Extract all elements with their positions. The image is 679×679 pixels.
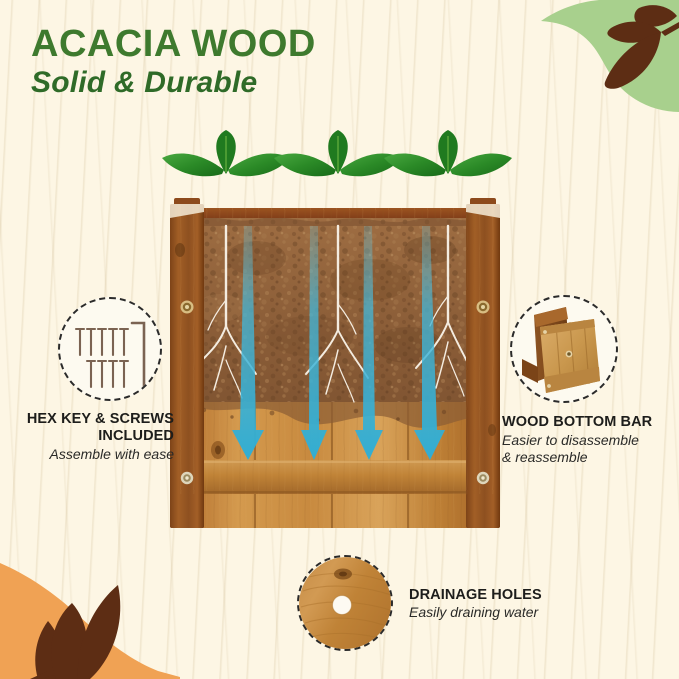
screw-upper-right (477, 301, 490, 314)
soil-mass (184, 216, 484, 433)
wood-bottom-bar-icon (512, 297, 618, 403)
callout-subtitle-hex-key: Assemble with ease (14, 446, 174, 463)
planter-post-right (466, 204, 500, 528)
planter-bottom-rail (178, 460, 496, 494)
screws-and-hex-key-icon (60, 299, 162, 401)
callout-subtitle-drainage: Easily draining water (409, 604, 542, 621)
callout-hex-key-screws: HEX KEY & SCREWS INCLUDED Assemble with … (14, 297, 192, 463)
page-subtitle: Solid & Durable (31, 66, 316, 101)
callout-title-hex-key-line1: HEX KEY & SCREWS (14, 411, 174, 428)
page-title: ACACIA WOOD (31, 25, 316, 64)
heading-block: ACACIA WOOD Solid & Durable (31, 25, 316, 100)
callout-title-hex-key-line2: INCLUDED (14, 428, 174, 445)
callout-drainage-holes: DRAINAGE HOLES Easily draining water (297, 555, 587, 651)
drainage-hole-disc-icon (299, 557, 393, 651)
callout-text-drainage: DRAINAGE HOLES Easily draining water (409, 585, 542, 622)
callout-circle-drainage (297, 555, 393, 651)
callout-subtitle-wood-bottom-bar-line1: Easier to disassemble (502, 432, 674, 449)
seedling-group (162, 130, 512, 216)
seedling-2 (274, 130, 402, 216)
callout-wood-bottom-bar: WOOD BOTTOM BAR Easier to disassemble & … (502, 295, 674, 466)
callout-text-hex-key: HEX KEY & SCREWS INCLUDED Assemble with … (14, 411, 192, 463)
corner-decoration-bottom-left (0, 519, 180, 679)
product-illustration (160, 130, 515, 555)
callout-text-wood-bottom-bar: WOOD BOTTOM BAR Easier to disassemble & … (502, 414, 674, 466)
screw-lower-left (181, 472, 193, 484)
callout-circle-wood-bottom-bar (510, 295, 618, 403)
screw-lower-right (477, 472, 489, 484)
callout-circle-hex-key (58, 297, 162, 401)
corner-decoration-top-right (519, 0, 679, 120)
callout-title-wood-bottom-bar: WOOD BOTTOM BAR (502, 414, 674, 431)
callout-subtitle-wood-bottom-bar-line2: & reassemble (502, 449, 674, 466)
callout-title-drainage: DRAINAGE HOLES (409, 587, 542, 604)
